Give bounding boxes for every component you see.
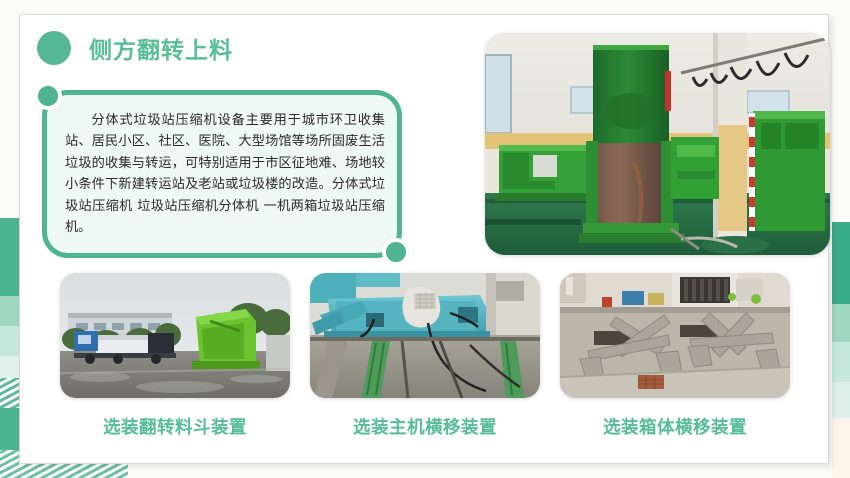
thumbnail-photo-2 [310, 273, 540, 398]
thumbnail-item-1: 选装翻转料斗装置 [60, 273, 290, 439]
thumbnail-row: 选装翻转料斗装置 [60, 273, 790, 439]
thumbnail-caption-3: 选装箱体横移装置 [560, 414, 790, 439]
thumbnail-photo-1 [60, 273, 290, 398]
slide-header: 侧方翻转上料 [37, 31, 233, 65]
thumbnail-item-3: 选装箱体横移装置 [560, 273, 790, 439]
right-accent-bar-mid [832, 304, 850, 342]
bullet-dot-icon [37, 31, 71, 65]
thumbnail-photo-3 [560, 273, 790, 398]
thumbnail-caption-2: 选装主机横移装置 [310, 414, 540, 439]
description-panel: 分体式垃圾站压缩机设备主要用于城市环卫收集站、居民小区、社区、医院、大型场馆等场… [42, 90, 402, 258]
thumbnail-caption-1: 选装翻转料斗装置 [60, 414, 290, 439]
thumbnail-image-1 [60, 273, 290, 398]
slide-canvas: 侧方翻转上料 分体式垃圾站压缩机设备主要用于城市环卫收集站、居民小区、社区、医院… [0, 0, 850, 478]
right-accent-bar-light [832, 342, 850, 382]
page-title: 侧方翻转上料 [89, 31, 233, 65]
thumbnail-item-2: 选装主机横移装置 [310, 273, 540, 439]
hero-photo-image [485, 33, 830, 255]
right-accent-bar-pale [832, 382, 850, 418]
content-card: 侧方翻转上料 分体式垃圾站压缩机设备主要用于城市环卫收集站、居民小区、社区、医院… [19, 14, 829, 464]
right-accent-bar-cream [832, 418, 850, 478]
hero-photo [485, 33, 830, 255]
description-text: 分体式垃圾站压缩机设备主要用于城市环卫收集站、居民小区、社区、医院、大型场馆等场… [65, 110, 385, 238]
thumbnail-image-3 [560, 273, 790, 398]
panel-corner-dot-bottom-right-icon [382, 238, 410, 266]
panel-corner-dot-top-left-icon [34, 82, 62, 110]
right-accent-bar-solid [832, 222, 850, 304]
thumbnail-image-2 [310, 273, 540, 398]
